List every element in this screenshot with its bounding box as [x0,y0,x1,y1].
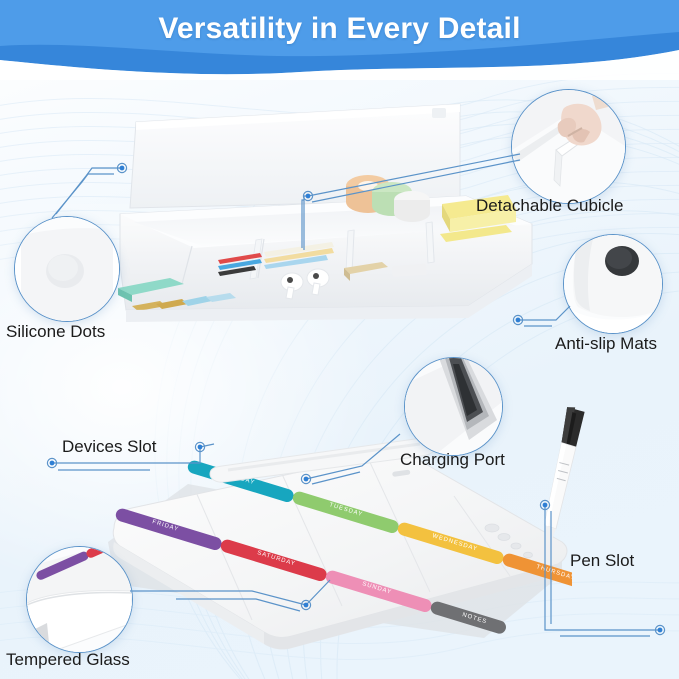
callout-bubble-silicone-dots [14,216,120,322]
label-charging-port: Charging Port [400,450,505,470]
desk-organizer-tray [96,96,566,376]
callout-bubble-detachable-cubicle [511,89,626,204]
label-anti-slip-mats: Anti-slip Mats [555,334,657,354]
label-detachable-cubicle: Detachable Cubicle [476,196,623,216]
label-tempered-glass: Tempered Glass [6,650,130,670]
infographic-canvas: Versatility in Every Detail [0,0,679,679]
callout-bubble-anti-slip-mats [563,234,663,334]
callout-bubble-charging-port [404,357,503,456]
header-banner: Versatility in Every Detail [0,0,679,76]
page-title: Versatility in Every Detail [0,12,679,46]
dry-erase-marker [526,403,596,553]
callout-bubble-tempered-glass [26,546,133,653]
label-devices-slot: Devices Slot [62,437,156,457]
label-pen-slot: Pen Slot [570,551,634,571]
label-silicone-dots: Silicone Dots [6,322,105,342]
